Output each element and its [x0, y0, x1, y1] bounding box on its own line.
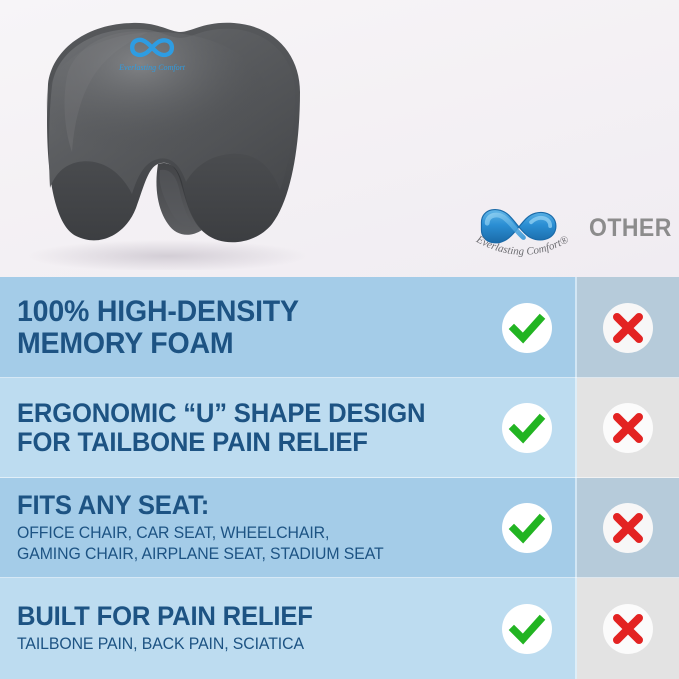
feature-subtitle-line: GAMING CHAIR, AIRPLANE SEAT, STADIUM SEA…: [17, 544, 448, 565]
feature-cell: ERGONOMIC “U” SHAPE DESIGN FOR TAILBONE …: [0, 378, 476, 478]
comparison-table: 100% HIGH-DENSITY MEMORY FOAM: [0, 277, 679, 679]
table-row: FITS ANY SEAT: OFFICE CHAIR, CAR SEAT, W…: [0, 478, 679, 578]
cross-icon: [602, 402, 654, 454]
check-icon: [501, 603, 553, 655]
feature-title-line: FOR TAILBONE PAIN RELIEF: [17, 428, 444, 457]
feature-subtitle-line: OFFICE CHAIR, CAR SEAT, WHEELCHAIR,: [17, 523, 448, 544]
hero-section: Everlasting Comfort: [0, 0, 679, 277]
check-icon: [501, 502, 553, 554]
everlasting-mark-cell: [476, 478, 577, 578]
other-mark-cell: [577, 478, 679, 578]
feature-title-line: FITS ANY SEAT:: [17, 491, 444, 520]
brand-header: Everlasting Comfort® OTHER: [470, 197, 679, 259]
feature-title-line: BUILT FOR PAIN RELIEF: [17, 602, 444, 631]
check-icon: [501, 302, 553, 354]
table-row: ERGONOMIC “U” SHAPE DESIGN FOR TAILBONE …: [0, 378, 679, 478]
svg-text:Everlasting Comfort: Everlasting Comfort: [118, 63, 186, 72]
table-row: BUILT FOR PAIN RELIEF TAILBONE PAIN, BAC…: [0, 578, 679, 679]
product-image-seat-cushion: Everlasting Comfort: [8, 12, 328, 270]
feature-cell: BUILT FOR PAIN RELIEF TAILBONE PAIN, BAC…: [0, 578, 476, 679]
feature-subtitle-line: TAILBONE PAIN, BACK PAIN, SCIATICA: [17, 634, 448, 655]
everlasting-mark-cell: [476, 277, 577, 378]
feature-title-line: ERGONOMIC “U” SHAPE DESIGN: [17, 399, 444, 428]
table-row: 100% HIGH-DENSITY MEMORY FOAM: [0, 277, 679, 378]
product-comparison-infographic: Everlasting Comfort: [0, 0, 679, 679]
cross-icon: [602, 502, 654, 554]
other-mark-cell: [577, 277, 679, 378]
cross-icon: [602, 302, 654, 354]
everlasting-mark-cell: [476, 378, 577, 478]
cross-icon: [602, 603, 654, 655]
competitor-column-label: OTHER: [589, 214, 672, 243]
other-mark-cell: [577, 378, 679, 478]
feature-title-line: 100% HIGH-DENSITY: [17, 296, 444, 328]
infinity-icon: Everlasting Comfort®: [470, 198, 575, 258]
column-divider: [575, 277, 577, 679]
check-icon: [501, 402, 553, 454]
feature-cell: FITS ANY SEAT: OFFICE CHAIR, CAR SEAT, W…: [0, 478, 476, 578]
feature-cell: 100% HIGH-DENSITY MEMORY FOAM: [0, 277, 476, 378]
other-mark-cell: [577, 578, 679, 679]
everlasting-mark-cell: [476, 578, 577, 679]
feature-title-line: MEMORY FOAM: [17, 328, 444, 360]
